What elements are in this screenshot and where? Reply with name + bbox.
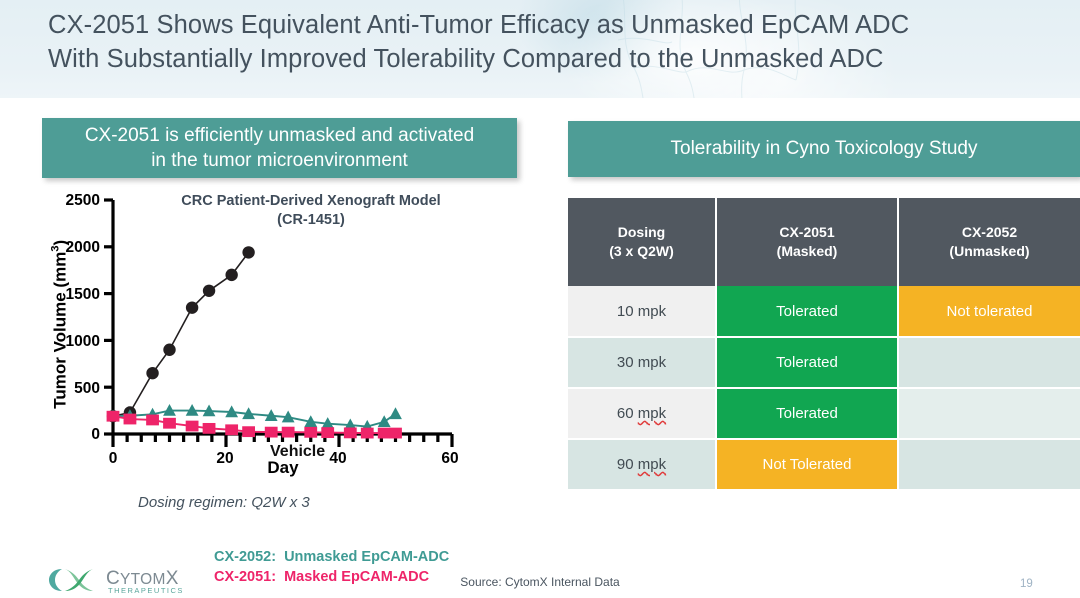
- table-header-cx2052-line2: (Unmasked): [949, 243, 1029, 259]
- dose-value: 60: [617, 405, 638, 422]
- table-cell-cx2052: [898, 439, 1080, 490]
- table-header-cx2052: CX-2052 (Unmasked): [898, 198, 1080, 286]
- table-cell-cx2051: Tolerated: [716, 286, 898, 337]
- chart-point: [107, 411, 120, 422]
- slide: CX-2051 Shows Equivalent Anti-Tumor Effi…: [0, 0, 1080, 598]
- chart-series-1: [107, 246, 255, 422]
- dosing-regimen-note: Dosing regimen: Q2W x 3: [138, 494, 310, 511]
- chart-point: [203, 423, 216, 434]
- chart-point: [378, 415, 391, 427]
- chart-point: [225, 424, 238, 435]
- chart-point: [378, 428, 391, 439]
- chart-point: [124, 414, 137, 425]
- chart-point: [344, 427, 357, 438]
- chart-point: [242, 246, 254, 258]
- chart-point: [186, 301, 198, 313]
- chart-point: [242, 426, 255, 437]
- title-line-2: With Substantially Improved Tolerability…: [48, 42, 1058, 76]
- dose-unit: mpk: [638, 354, 666, 371]
- legend-cx2052-code: CX-2052:: [214, 549, 276, 565]
- tumor-volume-chart: CRC Patient-Derived Xenograft Model (CR-…: [18, 186, 518, 526]
- table-cell-cx2052: [898, 337, 1080, 388]
- chart-point: [361, 428, 374, 439]
- table-cell-cx2052: Not tolerated: [898, 286, 1080, 337]
- dose-unit: mpk: [638, 405, 666, 422]
- table-row: 60 mpkTolerated: [568, 388, 1080, 439]
- chart-point: [265, 427, 278, 438]
- table-cell-cx2051: Tolerated: [716, 388, 898, 439]
- title-band: CX-2051 Shows Equivalent Anti-Tumor Effi…: [0, 0, 1080, 98]
- table-cell-dose: 30 mpk: [568, 337, 716, 388]
- left-callout-text: CX-2051 is efficiently unmasked and acti…: [85, 123, 474, 173]
- table-header-cx2051-line1: CX-2051: [779, 224, 834, 240]
- right-callout-banner: Tolerability in Cyno Toxicology Study: [568, 121, 1080, 177]
- table-header-cx2051-line2: (Masked): [777, 243, 838, 259]
- chart-point: [321, 427, 334, 438]
- table-header-dosing-line1: Dosing: [618, 224, 665, 240]
- chart-point: [389, 407, 402, 419]
- dose-value: 90: [617, 456, 638, 473]
- chart-point: [163, 344, 175, 356]
- legend-item-cx2052: CX-2052:Unmasked EpCAM-ADC: [214, 548, 449, 568]
- chart-point: [389, 428, 402, 439]
- left-callout-line-2: in the tumor microenvironment: [151, 150, 408, 171]
- chart-point: [203, 285, 215, 297]
- dose-unit: mpk: [638, 456, 666, 473]
- title-line-1: CX-2051 Shows Equivalent Anti-Tumor Effi…: [48, 8, 1058, 42]
- table-header-dosing-line2: (3 x Q2W): [609, 243, 674, 259]
- table-cell-dose: 90 mpk: [568, 439, 716, 490]
- table-body: 10 mpkToleratedNot tolerated30 mpkTolera…: [568, 286, 1080, 490]
- chart-point: [225, 269, 237, 281]
- table-row: 10 mpkToleratedNot tolerated: [568, 286, 1080, 337]
- left-callout-banner: CX-2051 is efficiently unmasked and acti…: [42, 118, 517, 178]
- table-cell-cx2052: [898, 388, 1080, 439]
- dose-unit: mpk: [638, 303, 666, 320]
- table-row: 90 mpkNot Tolerated: [568, 439, 1080, 490]
- chart-point: [163, 418, 176, 429]
- table-cell-cx2051: Not Tolerated: [716, 439, 898, 490]
- dose-value: 10: [617, 303, 638, 320]
- page-number: 19: [1020, 578, 1060, 590]
- table-row: 30 mpkTolerated: [568, 337, 1080, 388]
- chart-series-layer: [107, 246, 402, 438]
- left-callout-line-1: CX-2051 is efficiently unmasked and acti…: [85, 125, 474, 146]
- chart-plot-canvas: [18, 186, 518, 486]
- table-cell-dose: 60 mpk: [568, 388, 716, 439]
- chart-point: [282, 427, 295, 438]
- chart-point: [186, 421, 199, 432]
- table-header-cx2051: CX-2051 (Masked): [716, 198, 898, 286]
- vehicle-series-label: Vehicle: [270, 443, 325, 461]
- table-cell-dose: 10 mpk: [568, 286, 716, 337]
- chart-point: [304, 427, 317, 438]
- page-title: CX-2051 Shows Equivalent Anti-Tumor Effi…: [48, 8, 1058, 76]
- right-callout-text: Tolerability in Cyno Toxicology Study: [671, 138, 978, 160]
- table-header-cx2052-line1: CX-2052: [962, 224, 1017, 240]
- chart-point: [146, 367, 158, 379]
- dose-value: 30: [617, 354, 638, 371]
- table-cell-cx2051: Tolerated: [716, 337, 898, 388]
- legend-cx2052-text: Unmasked EpCAM-ADC: [284, 549, 449, 565]
- tolerability-table: Dosing (3 x Q2W) CX-2051 (Masked) CX-205…: [568, 198, 1080, 491]
- source-note: Source: CytomX Internal Data: [0, 575, 1080, 589]
- table-header-dosing: Dosing (3 x Q2W): [568, 198, 716, 286]
- table-header-row: Dosing (3 x Q2W) CX-2051 (Masked) CX-205…: [568, 198, 1080, 286]
- chart-point: [146, 415, 159, 426]
